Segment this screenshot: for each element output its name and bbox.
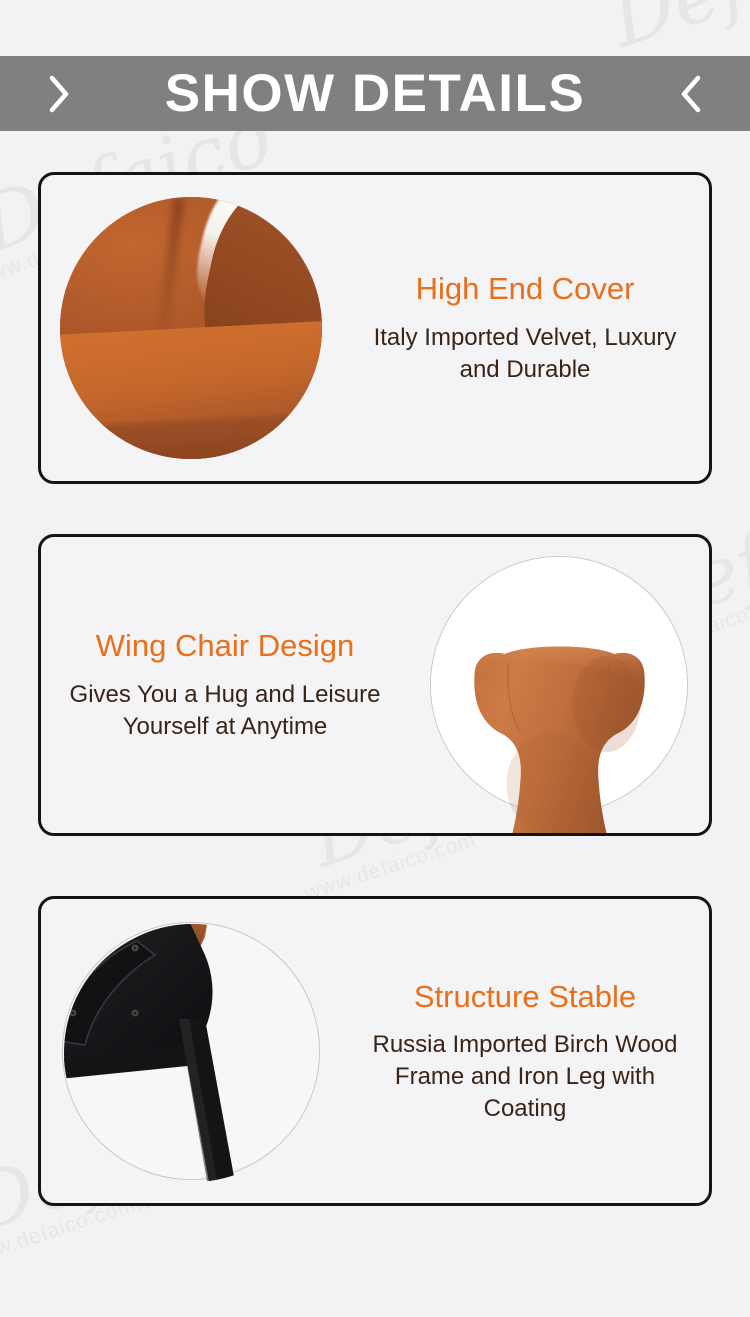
- circular-photo-frame: [62, 922, 320, 1180]
- feature-card-high-end-cover: High End Cover Italy Imported Velvet, Lu…: [38, 172, 712, 484]
- watermark-url: www.defaico.com: [302, 828, 479, 906]
- wing-chair-back-photo: [409, 535, 709, 835]
- feature-title: Structure Stable: [353, 978, 697, 1017]
- card-text-block: High End Cover Italy Imported Velvet, Lu…: [341, 270, 709, 385]
- wing-chair-silhouette: [457, 634, 662, 836]
- chevron-left-icon[interactable]: [674, 72, 708, 116]
- card-text-block: Wing Chair Design Gives You a Hug and Le…: [41, 627, 409, 742]
- circular-photo-frame: [60, 197, 322, 459]
- feature-card-structure-stable: Structure Stable Russia Imported Birch W…: [38, 896, 712, 1206]
- card-text-block: Structure Stable Russia Imported Birch W…: [341, 978, 709, 1125]
- feature-title: High End Cover: [353, 270, 697, 309]
- feature-title: Wing Chair Design: [53, 627, 397, 666]
- feature-description: Italy Imported Velvet, Luxury and Durabl…: [353, 322, 697, 385]
- frame-and-leg-detail: [38, 896, 329, 1193]
- velvet-upholstery-closeup-photo: [41, 178, 341, 478]
- feature-card-wing-chair-design: Wing Chair Design Gives You a Hug and Le…: [38, 534, 712, 836]
- show-details-banner: SHOW DETAILS: [0, 56, 750, 131]
- feature-description: Gives You a Hug and Leisure Yourself at …: [53, 679, 397, 742]
- chair-frame-iron-leg-photo: [41, 901, 341, 1201]
- circular-photo-frame: [430, 556, 688, 814]
- banner-title: SHOW DETAILS: [165, 67, 585, 120]
- product-detail-page: Defaico www.defaico.com Defaico www.defa…: [0, 0, 750, 1317]
- feature-description: Russia Imported Birch Wood Frame and Iro…: [353, 1029, 697, 1124]
- chevron-right-icon[interactable]: [42, 72, 76, 116]
